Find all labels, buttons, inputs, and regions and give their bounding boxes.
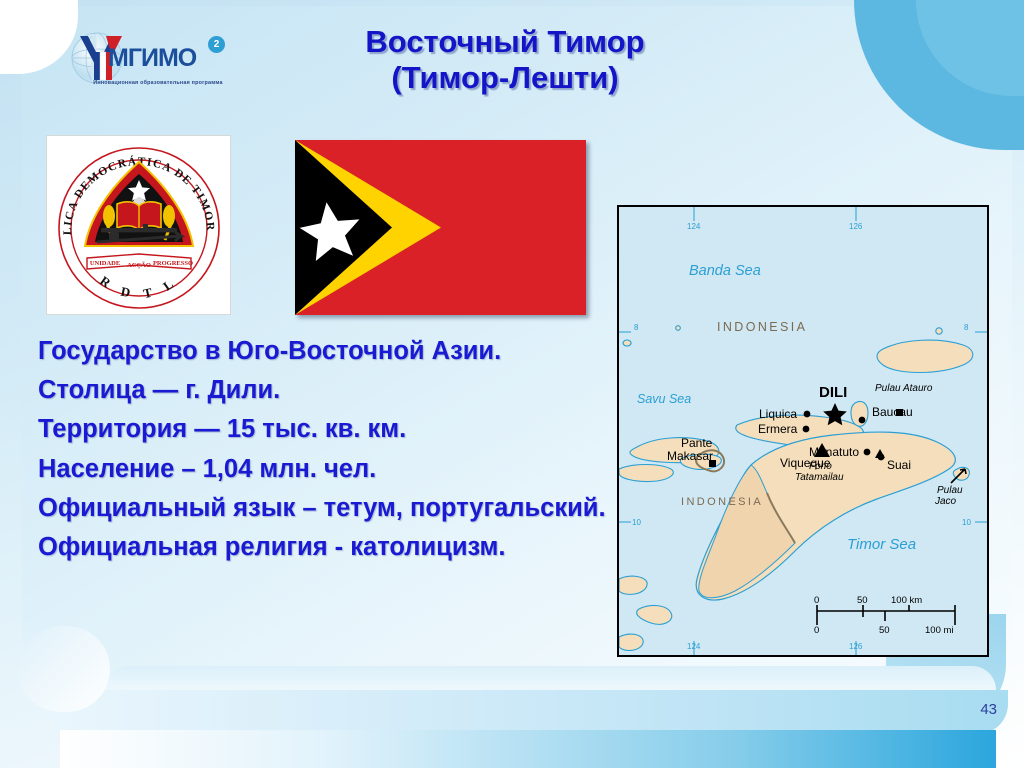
svg-text:124: 124	[687, 642, 701, 651]
mgimo-logo-text: МГИМО	[108, 44, 196, 73]
page-title: Восточный Тимор (Тимор-Лешти)	[270, 24, 740, 96]
page-number: 43	[980, 701, 997, 718]
svg-text:8: 8	[964, 323, 969, 332]
map-label-ermera: Ermera	[758, 422, 798, 436]
map-label-baucau: Baucau	[872, 405, 913, 419]
coat-of-arms: REPÚBLICA DEMOCRÁTICA DE TIMOR-LESTE R D…	[46, 135, 231, 315]
fact-item: Столица — г. Дили.	[38, 373, 618, 408]
fact-item: Официальный язык – тетум, португальский.	[38, 491, 618, 526]
svg-text:126: 126	[849, 642, 863, 651]
svg-text:Timor Sea: Timor Sea	[847, 536, 916, 553]
mgimo-logo: МГИМО 2 Инновационная образовательная пр…	[60, 28, 240, 94]
svg-text:Jaco: Jaco	[934, 496, 957, 507]
svg-text:Pulau Atauro: Pulau Atauro	[875, 383, 933, 394]
map-label-liquica: Liquica	[759, 407, 797, 421]
svg-text:10: 10	[962, 518, 971, 527]
coat-of-arms-graphic: REPÚBLICA DEMOCRÁTICA DE TIMOR-LESTE R D…	[47, 136, 230, 314]
svg-text:PROGRESSO: PROGRESSO	[153, 260, 193, 267]
map-label-pante: Pante	[681, 436, 713, 450]
facts-list: Государство в Юго-Восточной Азии. Столиц…	[38, 334, 618, 569]
svg-text:ACÇÃO: ACÇÃO	[127, 261, 151, 269]
svg-text:0: 0	[814, 625, 819, 636]
footer-band-dark	[60, 730, 996, 768]
svg-text:124: 124	[687, 222, 701, 231]
svg-text:0: 0	[814, 595, 819, 606]
footer-band-mid	[48, 690, 1008, 734]
svg-text:INDONESIA: INDONESIA	[681, 496, 763, 508]
mgimo-logo-superscript: 2	[208, 36, 225, 53]
svg-text:10: 10	[632, 518, 641, 527]
svg-text:8: 8	[634, 323, 639, 332]
svg-text:126: 126	[849, 222, 863, 231]
svg-text:100 km: 100 km	[891, 595, 922, 606]
flag-graphic	[295, 140, 586, 315]
page-title-line2: (Тимор-Лешти)	[270, 60, 740, 96]
svg-text:INDONESIA: INDONESIA	[717, 320, 807, 334]
page-title-line1: Восточный Тимор	[270, 24, 740, 60]
map-of-east-timor: 124 126 124 126 8 10 8 10	[617, 205, 989, 657]
map-label-suai: Suai	[887, 458, 911, 472]
svg-text:Savu Sea: Savu Sea	[637, 392, 691, 406]
fact-item: Территория — 15 тыс. кв. км.	[38, 412, 618, 447]
map-graphic: 124 126 124 126 8 10 8 10	[619, 207, 987, 655]
svg-text:Foho: Foho	[809, 461, 832, 472]
corner-decoration-bottom-left	[18, 626, 110, 712]
svg-text:UNIDADE: UNIDADE	[90, 260, 120, 267]
svg-text:100 mi: 100 mi	[925, 625, 954, 636]
mgimo-logo-subtitle: Инновационная образовательная программа	[76, 80, 240, 86]
fact-item: Население – 1,04 млн. чел.	[38, 452, 618, 487]
svg-text:DILI: DILI	[819, 384, 847, 401]
fact-item: Государство в Юго-Восточной Азии.	[38, 334, 618, 369]
svg-text:Pulau: Pulau	[937, 485, 963, 496]
flag-of-east-timor	[295, 140, 586, 315]
svg-text:Tatamailau: Tatamailau	[795, 472, 844, 483]
svg-text:50: 50	[879, 625, 890, 636]
fact-item: Официальная религия - католицизм.	[38, 530, 618, 565]
svg-text:50: 50	[857, 595, 868, 606]
map-label-makasar: Makasar	[667, 449, 713, 463]
svg-text:Banda Sea: Banda Sea	[689, 263, 761, 279]
